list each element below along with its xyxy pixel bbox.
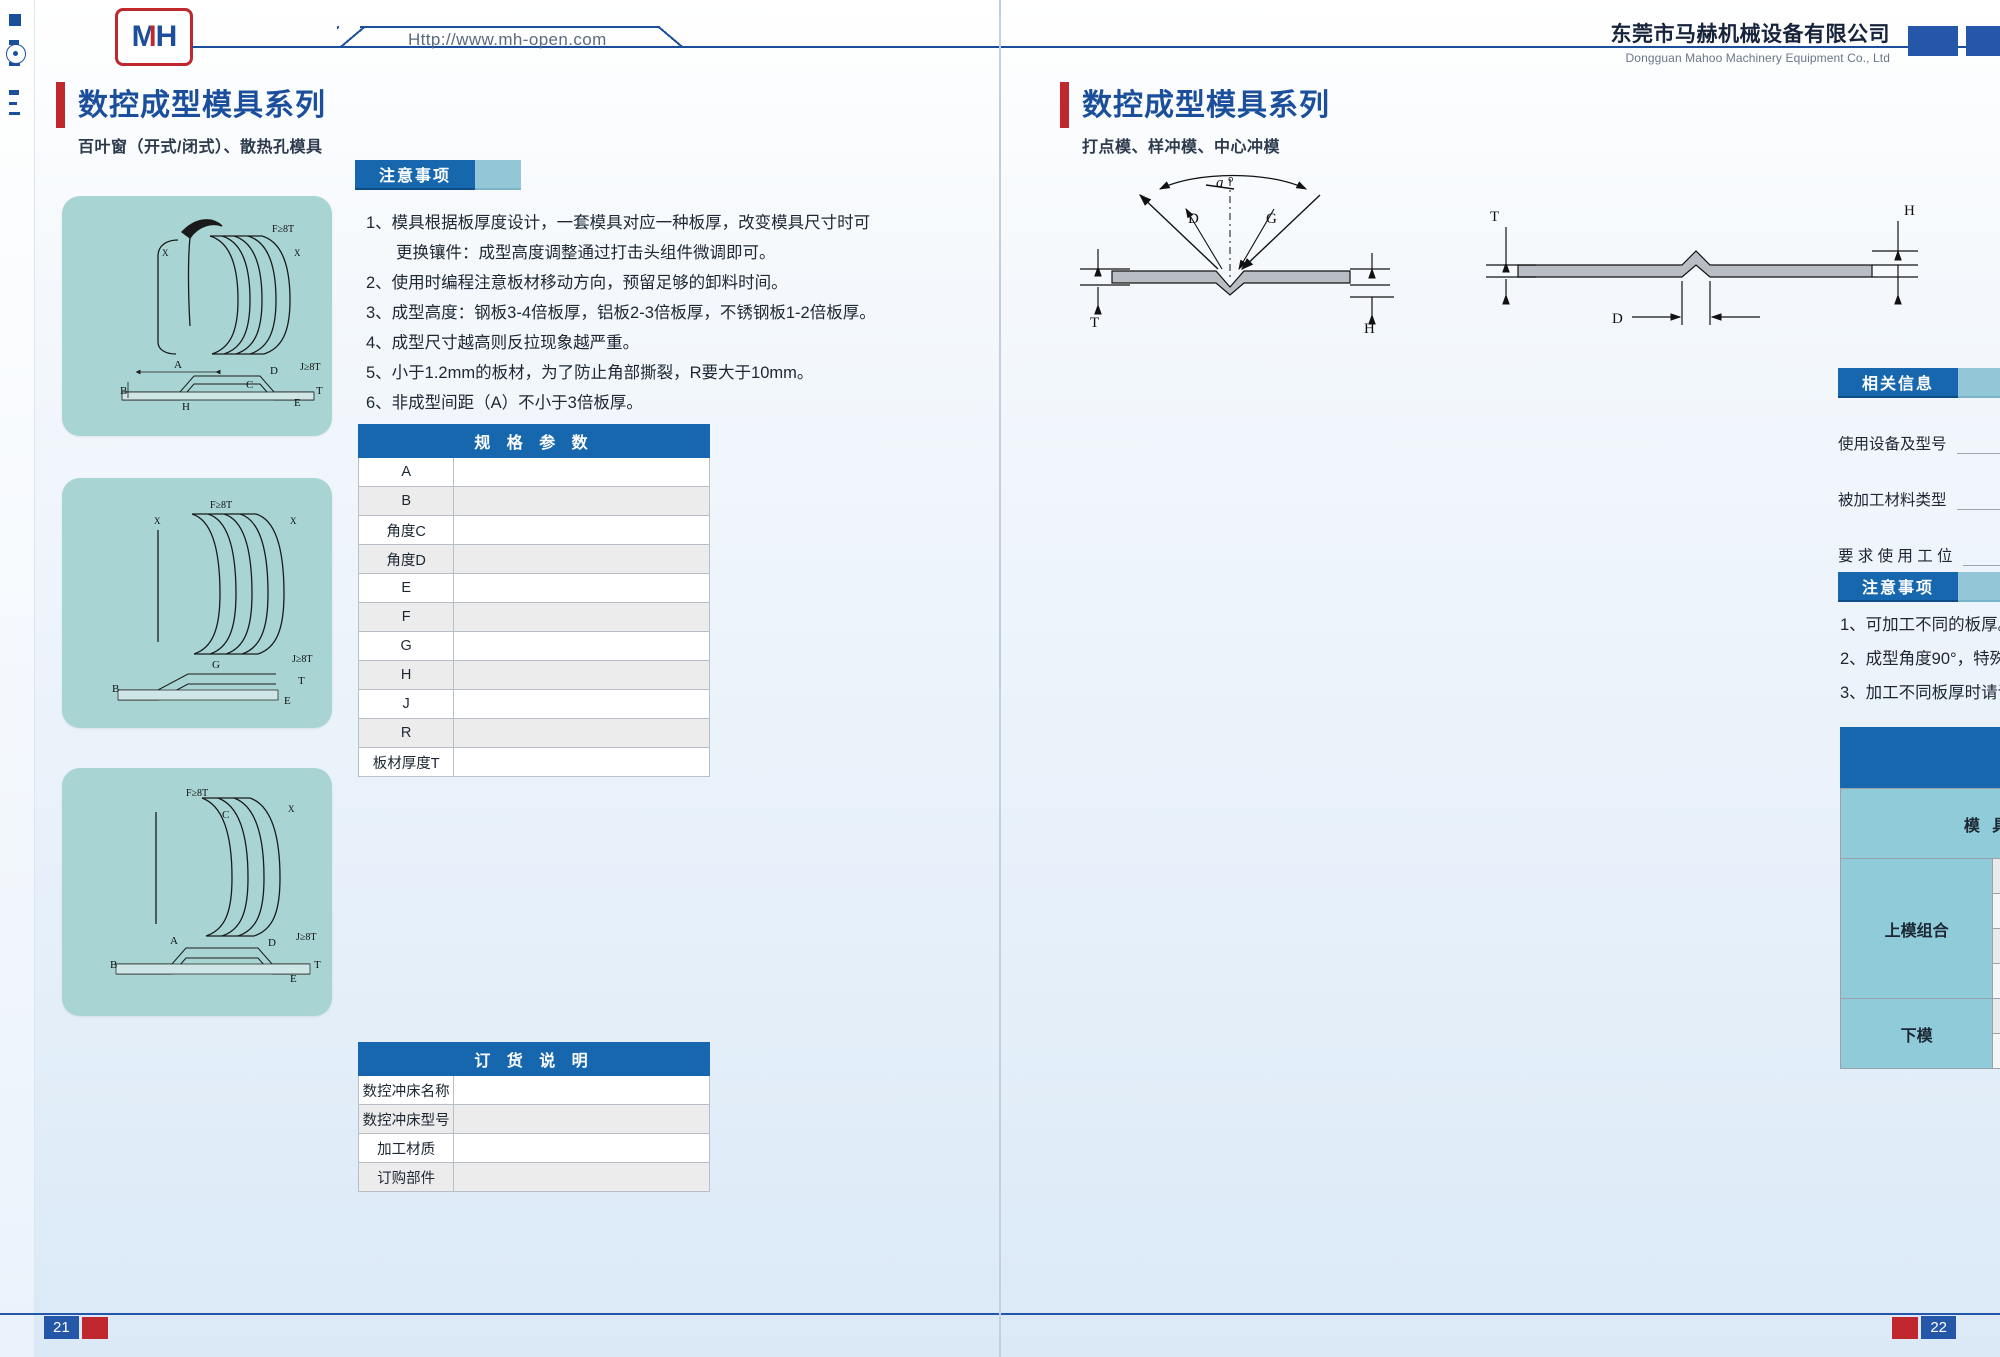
svg-text:A: A	[170, 935, 178, 947]
left-notes-list: 1、模具根据板厚度设计，一套模具对应一种板厚，改变模具尺寸时可 更换镶件：成型高…	[366, 208, 986, 418]
svg-text:X: X	[154, 516, 161, 526]
svg-text:A: A	[174, 359, 182, 371]
field-label-material-type: 被加工材料类型	[1838, 488, 1947, 510]
spec-row-r: R	[359, 719, 710, 748]
table-row: 下模 外径 25.40-0.007-0.020 47.62-0.009-0.02…	[1841, 999, 2000, 1034]
svg-text:H: H	[1904, 203, 1915, 219]
right-footer-rule	[1000, 1313, 2000, 1315]
order-value-machine-model[interactable]	[454, 1105, 710, 1134]
svg-text:D: D	[1188, 211, 1199, 227]
spec-table-caption: 规 格 参 数	[359, 425, 710, 458]
field-equipment-model: 使用设备及型号	[1838, 432, 2000, 454]
order-table-caption-row: 订 货 说 明	[359, 1043, 710, 1076]
right-notes-heading-label: 注意事项	[1838, 572, 1958, 602]
svg-text:a °: a °	[1216, 175, 1233, 191]
svg-text:J≥8T: J≥8T	[296, 932, 317, 943]
spec-row-c: 角度C	[359, 516, 710, 545]
company-name-en: Dongguan Mahoo Machinery Equipment Co., …	[1611, 51, 1891, 65]
svg-text:T: T	[1490, 209, 1499, 225]
right-header: 东莞市马赫机械设备有限公司 Dongguan Mahoo Machinery E…	[1000, 0, 2000, 72]
website-url[interactable]: Http://www.mh-open.com	[408, 30, 607, 50]
page-title: 数控成型模具系列	[78, 80, 326, 124]
spec-row-a: A	[359, 458, 710, 487]
left-page-number-accent	[82, 1317, 108, 1339]
svg-text:T: T	[314, 959, 321, 971]
svg-text:T: T	[316, 385, 323, 397]
right-page-title: 数控成型模具系列	[1082, 80, 1330, 124]
svg-text:C: C	[222, 809, 229, 821]
left-note-5: 5、小于1.2mm的板材，为了防止角部撕裂，R要大于10mm。	[366, 358, 986, 388]
svg-text:D: D	[268, 937, 276, 949]
order-row-1: 数控冲床名称	[359, 1076, 710, 1105]
spec-row-h: H	[359, 661, 710, 690]
right-notes-list: 1、可加工不同的板厚。 2、成型角度90°，特殊要求请说明。 3、加工不同板厚时…	[1840, 608, 2000, 710]
left-page: MH Http://www.mh-open.com 数控成型模具系列 百叶窗（开…	[0, 0, 1000, 1357]
spec-row-d: 角度D	[359, 545, 710, 574]
spec-row-g: G	[359, 632, 710, 661]
right-notes-heading: 注意事项	[1838, 572, 2000, 602]
spec-value-f[interactable]	[454, 603, 710, 632]
related-info-heading: 相关信息	[1838, 368, 2000, 398]
order-label-parts: 订购部件	[359, 1163, 454, 1192]
field-label-equipment-model: 使用设备及型号	[1838, 432, 1947, 454]
spec-value-t[interactable]	[454, 748, 710, 777]
ref-col-mold: 模 具	[1841, 789, 2000, 859]
right-note-1: 1、可加工不同的板厚。	[1840, 608, 2000, 642]
spec-row-e: E	[359, 574, 710, 603]
left-note-1: 1、模具根据板厚度设计，一套模具对应一种板厚，改变模具尺寸时可	[366, 208, 986, 238]
spec-value-e[interactable]	[454, 574, 710, 603]
order-row-2: 数控冲床型号	[359, 1105, 710, 1134]
svg-text:H: H	[1364, 321, 1375, 337]
svg-text:X: X	[288, 804, 295, 814]
spec-label-g: G	[359, 632, 454, 661]
left-page-number-badge: 21	[44, 1316, 79, 1339]
left-note-6: 6、非成型间距（A）不小于3倍板厚。	[366, 388, 986, 418]
ref-row-label-guide-od: 导套外径	[1993, 929, 2000, 964]
header-square-1	[1908, 26, 1958, 56]
right-page-number: 22	[1892, 1316, 1956, 1339]
left-notes-heading-label: 注意事项	[355, 160, 475, 190]
table-row: 上模组合 组合长度 209.50 209.50 209.00 211.00 21…	[1841, 859, 2000, 894]
left-header: MH Http://www.mh-open.com	[0, 0, 1000, 72]
order-table-caption: 订 货 说 明	[359, 1043, 710, 1076]
louver-diagram-2: G B T J≥8T F≥8T X X E	[62, 478, 332, 728]
left-section-title: 数控成型模具系列 百叶窗（开式/闭式）、散热孔模具	[56, 80, 326, 157]
spec-value-d[interactable]	[454, 545, 710, 574]
title-accent-bar	[56, 82, 65, 128]
left-note-4: 4、成型尺寸越高则反拉现象越严重。	[366, 328, 986, 358]
louver-diagram-1: A B D C H E T F≥8T X X J≥8T	[62, 196, 332, 436]
order-label-material: 加工材质	[359, 1134, 454, 1163]
svg-text:B: B	[110, 959, 117, 971]
svg-text:B: B	[120, 385, 127, 397]
spec-value-h[interactable]	[454, 661, 710, 690]
spec-value-j[interactable]	[454, 690, 710, 719]
svg-text:D: D	[270, 365, 278, 377]
reference-table: 模 具 模 具 工 位 A（1/2''） B（11/4''） C（2''） 上模…	[1840, 788, 2000, 1069]
right-section-title: 数控成型模具系列 打点模、样冲模、中心冲模	[1060, 80, 1330, 157]
spec-value-b[interactable]	[454, 487, 710, 516]
spec-label-e: E	[359, 574, 454, 603]
left-page-number: 21	[44, 1316, 108, 1339]
spec-label-r: R	[359, 719, 454, 748]
left-note-3: 3、成型高度：钢板3-4倍板厚，铝板2-3倍板厚，不锈钢板1-2倍板厚。	[366, 298, 986, 328]
right-note-2: 2、成型角度90°，特殊要求请说明。	[1840, 642, 2000, 676]
svg-text:D: D	[1612, 311, 1623, 327]
order-value-parts[interactable]	[454, 1163, 710, 1192]
spec-label-t: 板材厚度T	[359, 748, 454, 777]
ref-group-upper: 上模组合	[1841, 859, 1993, 999]
svg-text:F≥8T: F≥8T	[272, 224, 294, 235]
catalog-spread: MH Http://www.mh-open.com 数控成型模具系列 百叶窗（开…	[0, 0, 2000, 1357]
right-page-number-badge: 22	[1921, 1316, 1956, 1339]
spec-row-j: J	[359, 690, 710, 719]
order-value-material[interactable]	[454, 1134, 710, 1163]
svg-text:T: T	[298, 675, 305, 687]
company-block: 东莞市马赫机械设备有限公司 Dongguan Mahoo Machinery E…	[1611, 18, 1891, 65]
field-material-type: 被加工材料类型	[1838, 488, 2000, 510]
ref-group-lower: 下模	[1841, 999, 1993, 1069]
spec-value-g[interactable]	[454, 632, 710, 661]
field-input-equipment-model[interactable]	[1957, 438, 2000, 454]
svg-text:X: X	[294, 248, 301, 258]
spec-label-b: B	[359, 487, 454, 516]
spec-table-caption-row: 规 格 参 数	[359, 425, 710, 458]
page-subtitle: 百叶窗（开式/闭式）、散热孔模具	[78, 133, 326, 157]
ref-row-label-assembly-length: 组合长度	[1993, 859, 2000, 894]
spec-value-r[interactable]	[454, 719, 710, 748]
logo-text: MH	[132, 20, 177, 54]
order-value-machine-name[interactable]	[454, 1076, 710, 1105]
spec-label-h: H	[359, 661, 454, 690]
order-label-machine-name: 数控冲床名称	[359, 1076, 454, 1105]
reference-table-block: 厚塔数控冲床模具尺寸参考表 模 具 模 具 工 位 A（1/2''） B（11/…	[1840, 727, 2000, 1069]
reference-table-caption: 厚塔数控冲床模具尺寸参考表	[1840, 727, 2000, 788]
left-notes-heading-tail	[475, 160, 521, 190]
spec-row-f: F	[359, 603, 710, 632]
spec-label-f: F	[359, 603, 454, 632]
svg-text:C: C	[246, 379, 253, 391]
company-name-cn: 东莞市马赫机械设备有限公司	[1611, 18, 1891, 48]
mh-logo: MH	[115, 8, 193, 66]
right-page-number-accent	[1892, 1317, 1918, 1339]
order-row-4: 订购部件	[359, 1163, 710, 1192]
left-footer-rule	[0, 1313, 1000, 1315]
spec-row-t: 板材厚度T	[359, 748, 710, 777]
related-info-heading-tail	[1958, 368, 2000, 398]
svg-text:G: G	[1266, 211, 1277, 227]
field-input-station[interactable]	[1963, 550, 2000, 566]
right-notes-heading-tail	[1958, 572, 2000, 602]
punch-diagram-group: a ° D G T H	[1020, 165, 1960, 365]
spec-label-a: A	[359, 458, 454, 487]
louver-figure-1: A B D C H E T F≥8T X X J≥8T	[62, 196, 332, 436]
page-gutter	[999, 0, 1001, 1357]
ref-row-label-outer-dia: 外径	[1993, 999, 2000, 1034]
svg-text:H: H	[182, 401, 190, 413]
spec-table: 规 格 参 数 A B 角度C 角度D E F G H J R 板材厚度T	[358, 424, 710, 777]
svg-text:F≥8T: F≥8T	[210, 500, 232, 511]
field-label-station: 要 求 使 用 工 位	[1838, 544, 1953, 566]
right-note-3: 3、加工不同板厚时请调整冲压行程或者模具高度，严禁无板冲压空打，否则会损坏模具。	[1840, 676, 2000, 710]
edge-decoration-strip	[0, 0, 35, 1357]
svg-text:X: X	[162, 248, 169, 258]
spec-value-a[interactable]	[454, 458, 710, 487]
ref-row-label-guide-keyway: 导套键槽	[1993, 964, 2000, 999]
right-page: 东莞市马赫机械设备有限公司 Dongguan Mahoo Machinery E…	[1000, 0, 2000, 1357]
svg-text:F≥8T: F≥8T	[186, 788, 208, 799]
order-table: 订 货 说 明 数控冲床名称 数控冲床型号 加工材质 订购部件	[358, 1042, 710, 1192]
order-label-machine-model: 数控冲床型号	[359, 1105, 454, 1134]
spec-label-d: 角度D	[359, 545, 454, 574]
svg-text:J≥8T: J≥8T	[292, 654, 313, 665]
svg-text:J≥8T: J≥8T	[300, 362, 321, 373]
louver-figure-2: G B T J≥8T F≥8T X X E	[62, 478, 332, 728]
spec-row-b: B	[359, 487, 710, 516]
svg-text:T: T	[1090, 315, 1099, 331]
svg-text:X: X	[290, 516, 297, 526]
svg-text:E: E	[284, 695, 291, 707]
field-input-material-type[interactable]	[1957, 494, 2000, 510]
ref-row-label-punch-length: 冲头长度	[1993, 894, 2000, 929]
left-notes-heading: 注意事项	[355, 160, 521, 190]
left-note-2: 2、使用时编程注意板材移动方向，预留足够的卸料时间。	[366, 268, 986, 298]
header-square-2	[1966, 26, 2000, 56]
svg-text:E: E	[294, 397, 301, 409]
louver-diagram-3: A B D E T F≥8T C X J≥8T	[62, 768, 332, 1016]
punch-diagrams: a ° D G T H	[1020, 165, 1960, 365]
reference-table-header-row-1: 模 具 模 具 工 位	[1841, 789, 2000, 824]
louver-figure-3: A B D E T F≥8T C X J≥8T	[62, 768, 332, 1016]
spec-label-c: 角度C	[359, 516, 454, 545]
svg-text:E: E	[290, 973, 297, 985]
ref-row-label-height: 高度	[1993, 1034, 2000, 1069]
spec-label-j: J	[359, 690, 454, 719]
right-title-accent-bar	[1060, 82, 1069, 128]
svg-text:B: B	[112, 683, 119, 695]
right-page-subtitle: 打点模、样冲模、中心冲模	[1082, 133, 1330, 157]
field-station: 要 求 使 用 工 位	[1838, 544, 2000, 566]
order-row-3: 加工材质	[359, 1134, 710, 1163]
left-note-1b: 更换镶件：成型高度调整通过打击头组件微调即可。	[366, 238, 986, 268]
header-notch-right	[657, 26, 683, 48]
spec-value-c[interactable]	[454, 516, 710, 545]
svg-text:G: G	[212, 659, 220, 671]
related-info-heading-label: 相关信息	[1838, 368, 1958, 398]
